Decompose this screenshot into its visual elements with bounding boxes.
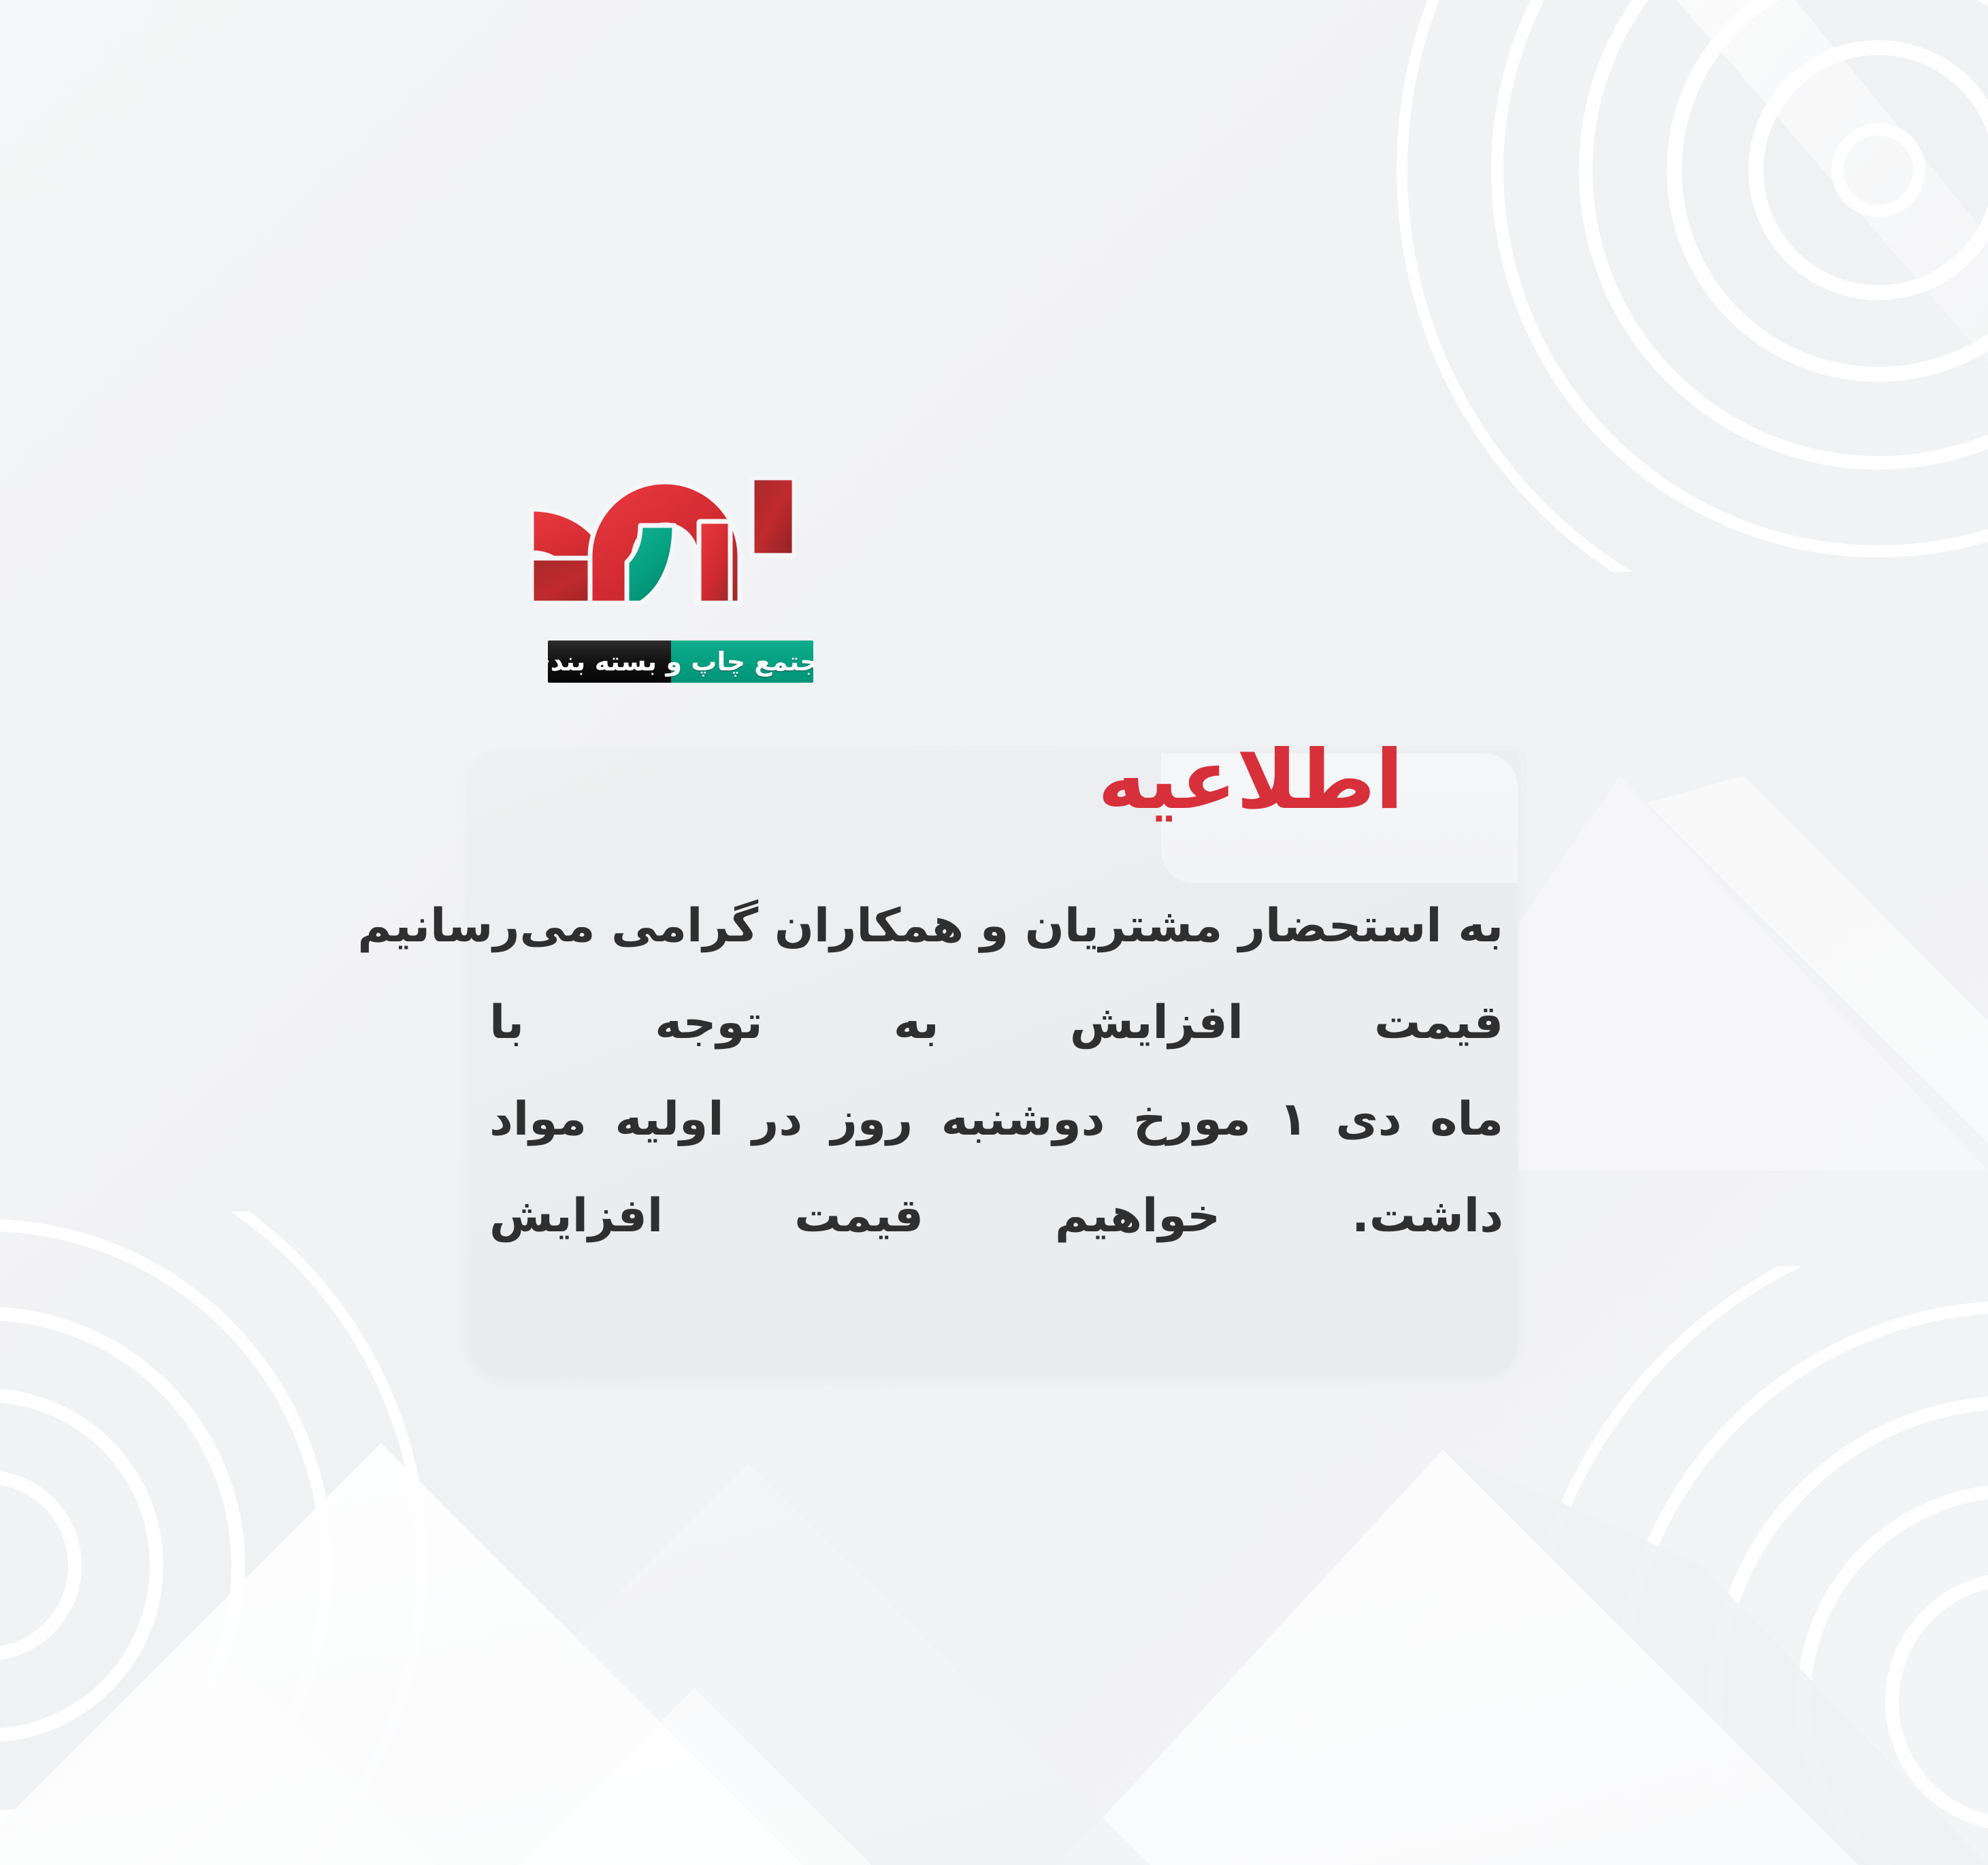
body-line-3-word-6: روز: [831, 1071, 913, 1168]
body-line-2-word-4: توجه: [655, 975, 762, 1071]
diagonal-band-top-right: [1606, 0, 1988, 408]
body-line-2-word-2: افزایش: [1070, 975, 1243, 1071]
body-line-2-word-3: به: [894, 975, 939, 1071]
body-line-4-word-4: افزایش: [489, 1168, 663, 1265]
body-line-3-word-7: در: [752, 1071, 802, 1168]
rings-bottom-left: [0, 1130, 422, 1865]
logo-tagline-bar: مجتمع چاپ و بسته بندی: [548, 640, 813, 683]
announcement-title: اطلاعیه: [1098, 734, 1520, 828]
company-logo: مجتمع چاپ و بسته بندی: [500, 476, 813, 683]
announcement-body: به استحضار مشتریان و همکاران گرامی می‌رس…: [489, 878, 1503, 1265]
body-line-3-word-2: دی: [1335, 1071, 1401, 1168]
body-line-1: به استحضار مشتریان و همکاران گرامی می‌رس…: [489, 878, 1503, 975]
body-line-2: قیمت افزایش به توجه با: [489, 975, 1503, 1071]
logo-tagline-text: مجتمع چاپ و بسته بندی: [548, 640, 813, 683]
mountain-shapes-bottom: [0, 1443, 1988, 1865]
body-line-3-word-8: اولیه: [615, 1071, 723, 1168]
body-line-4: داشت. خواهیم قیمت افزایش: [489, 1168, 1503, 1265]
body-line-4-word-2: خواهیم: [1055, 1168, 1220, 1265]
body-line-3-word-4: مورخ: [1133, 1071, 1251, 1168]
body-line-3-word-3: ۱: [1279, 1071, 1307, 1168]
rings-bottom-right: [1525, 1212, 1988, 1865]
body-line-3-word-9: مواد: [489, 1071, 587, 1168]
body-line-2-word-5: با: [489, 975, 524, 1071]
body-line-3-word-5: دوشنبه: [941, 1071, 1105, 1168]
body-line-4-word-3: قیمت: [794, 1168, 924, 1265]
body-line-4-word-1: داشت.: [1352, 1168, 1503, 1265]
body-line-3-word-1: ماه: [1430, 1071, 1503, 1168]
announcement-poster: مجتمع چاپ و بسته بندی اطلاعیه به استحضار…: [0, 0, 1988, 1865]
body-line-2-word-1: قیمت: [1374, 975, 1503, 1071]
body-line-3: ماه دی ۱ مورخ دوشنبه روز در اولیه مواد: [489, 1071, 1503, 1168]
rings-top-right: [1402, 0, 1988, 647]
logo-mark-icon: [527, 476, 813, 636]
